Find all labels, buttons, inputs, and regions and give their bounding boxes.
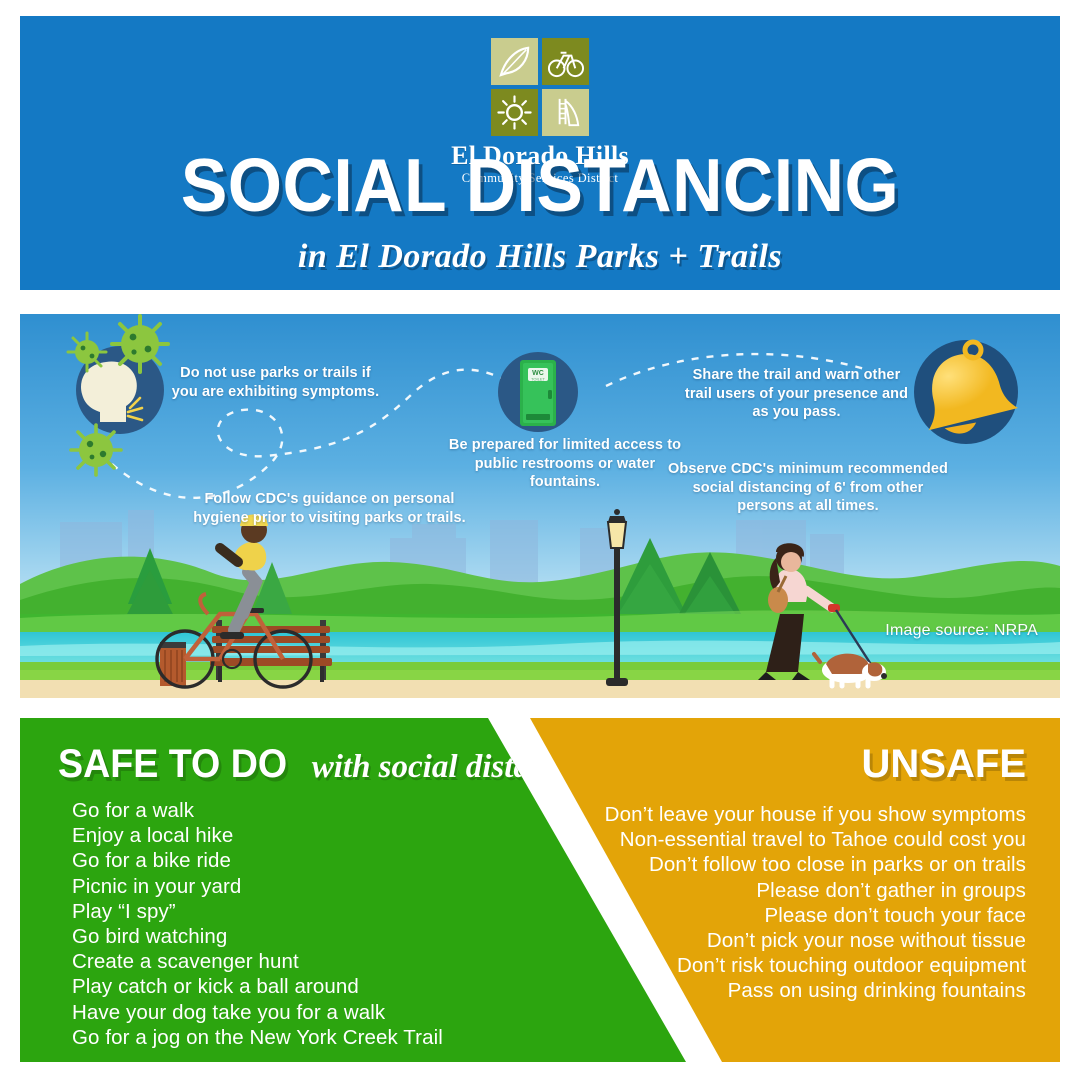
list-item: Enjoy a local hike	[72, 823, 443, 848]
list-item: Please don’t gather in groups	[605, 878, 1026, 903]
list-item: Play catch or kick a ball around	[72, 974, 443, 999]
list-item: Go bird watching	[72, 924, 443, 949]
list-item: Picnic in your yard	[72, 874, 443, 899]
list-item: Go for a walk	[72, 798, 443, 823]
safe-items-list: Go for a walk Enjoy a local hike Go for …	[72, 798, 443, 1050]
tip-restrooms: Be prepared for limited access to public…	[440, 436, 690, 492]
list-item: Create a scavenger hunt	[72, 949, 443, 974]
tip-symptoms: Do not use parks or trails if you are ex…	[168, 364, 383, 401]
list-item: Go for a bike ride	[72, 848, 443, 873]
tip-share-trail: Share the trail and warn other trail use…	[680, 366, 913, 422]
safe-panel-heading: SAFE TO DO with social distancing	[58, 744, 607, 784]
tip-hygiene: Follow CDC's guidance on personal hygien…	[182, 490, 477, 527]
portable-restroom-icon: WC TOILET	[498, 352, 578, 432]
header-banner: El Dorado Hills Community Services Distr…	[20, 16, 1060, 290]
virus-particle	[71, 425, 121, 475]
virus-particle	[112, 316, 168, 372]
list-item: Don’t follow too close in parks or on tr…	[605, 852, 1026, 877]
list-item: Don’t leave your house if you show sympt…	[605, 802, 1026, 827]
list-item: Go for a jog on the New York Creek Trail	[72, 1025, 443, 1050]
playground-slide-icon	[542, 89, 589, 136]
image-source-credit: Image source: NRPA	[885, 622, 1038, 640]
list-item: Don’t pick your nose without tissue	[605, 928, 1026, 953]
infographic-page: El Dorado Hills Community Services Distr…	[0, 0, 1080, 1080]
logo-icon-grid	[491, 38, 589, 136]
page-subtitle: in El Dorado Hills Parks + Trails	[20, 240, 1060, 274]
safe-heading-main: SAFE TO DO	[58, 744, 287, 784]
list-item: Non-essential travel to Tahoe could cost…	[605, 827, 1026, 852]
list-item: Have your dog take you for a walk	[72, 1000, 443, 1025]
unsafe-panel-heading: UNSAFE	[862, 744, 1026, 784]
sun-icon	[491, 89, 538, 136]
leaf-icon	[491, 38, 538, 85]
list-item: Pass on using drinking fountains	[605, 978, 1026, 1003]
tip-six-feet: Observe CDC's minimum recommended social…	[668, 460, 948, 516]
list-item: Please don’t touch your face	[605, 903, 1026, 928]
list-item: Play “I spy”	[72, 899, 443, 924]
list-item: Don’t risk touching outdoor equipment	[605, 953, 1026, 978]
bicycle-icon	[542, 38, 589, 85]
page-title: SOCIAL DISTANCING	[56, 150, 1023, 221]
svg-text:TOILET: TOILET	[531, 377, 545, 382]
park-scene-illustration: WC TOILET Do not use parks or trails if …	[20, 314, 1060, 698]
unsafe-items-list: Don’t leave your house if you show sympt…	[605, 802, 1026, 1004]
